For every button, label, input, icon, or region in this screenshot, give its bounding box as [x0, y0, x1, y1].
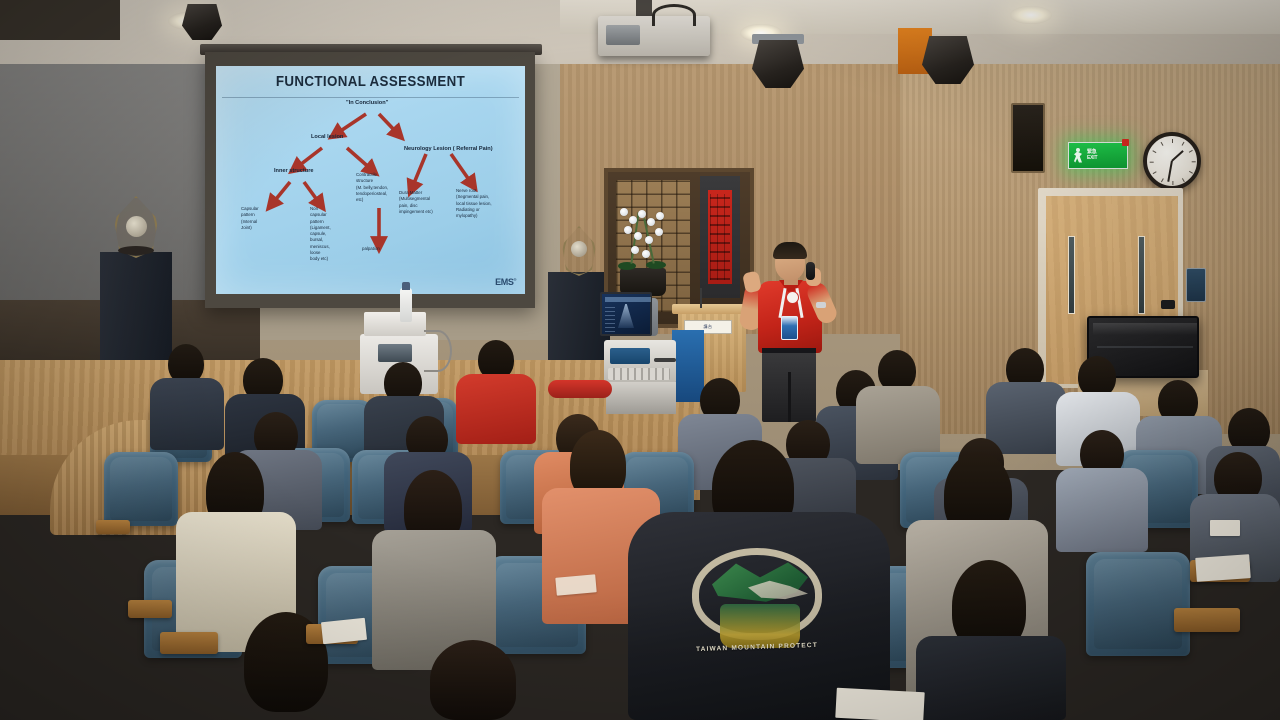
slide-node-palpation: palpation [362, 246, 380, 252]
seat-armrest [1174, 608, 1240, 632]
attendee-body [986, 382, 1066, 454]
orchid-flower [655, 228, 663, 236]
sculpture-disc [571, 241, 587, 257]
jacket-mountain-emblem [720, 604, 800, 648]
presenter-chest-pin [786, 291, 799, 304]
attendee-body [1056, 468, 1148, 552]
jacket-graphic: TAIWAN MOUNTAIN PROTECT [686, 548, 828, 666]
tv-screen-glare [1093, 323, 1197, 335]
handout-paper [1195, 554, 1251, 582]
seat-armrest [96, 520, 130, 534]
slide-node-nerve-root: Nerve root (Segmental pain, local tissue… [456, 188, 514, 219]
seat[interactable] [1086, 552, 1190, 656]
ems-logo: EMS® [495, 277, 516, 287]
projector-cable [652, 4, 696, 26]
ultrasound-scan-image [618, 304, 634, 328]
wall-clock-icon [1143, 132, 1201, 190]
slide-node-non-capsular: Non capsular pattern (Ligament, capsule,… [310, 206, 354, 262]
orchid-flower [647, 218, 655, 226]
access-card-reader[interactable] [1186, 268, 1206, 302]
ultrasound-screen-header [605, 297, 651, 302]
ultrasound-monitor [600, 292, 652, 336]
downlight-icon [1010, 6, 1052, 24]
orchid-flower [645, 236, 653, 244]
ultrasound-touch-panel [610, 348, 650, 364]
clock-tick [1172, 139, 1173, 143]
ultrasound-cart-base [606, 382, 676, 414]
presenter-leg-split [788, 372, 791, 422]
therapy-device-display [378, 344, 412, 362]
wall-speaker-icon [1011, 103, 1045, 173]
ceiling-shadow-left [0, 0, 120, 40]
therapy-device-tray [364, 312, 426, 336]
sculpture-base [118, 246, 154, 255]
slide-node-local-lesion: Local lesion [311, 134, 343, 142]
lectern-microphone-icon [700, 288, 702, 308]
exit-sign-indicator [1122, 139, 1129, 146]
slide-node-root: "In Conclusion" [346, 100, 388, 108]
clock-tick [1182, 178, 1185, 182]
gel-bottle [400, 288, 412, 322]
orchid-flower [629, 216, 637, 224]
scroll-calligraphy-text [710, 194, 730, 280]
clock-tick [1172, 181, 1173, 185]
handheld-microphone-icon [806, 262, 815, 280]
clock-tick [1150, 161, 1154, 162]
orchid-leaf [646, 261, 666, 269]
clock-tick [1189, 171, 1193, 174]
seat-armrest [160, 632, 218, 654]
presenter-hair [773, 242, 807, 259]
gel-bottle-cap [402, 282, 410, 290]
attendee-body [456, 374, 536, 444]
orchid-flower [656, 212, 664, 220]
emergency-exit-sign: 緊急 EXIT [1068, 142, 1128, 169]
orchid-flower [634, 232, 642, 240]
calligraphy-scroll [700, 176, 740, 298]
orchid-flower [631, 246, 639, 254]
seat[interactable] [104, 452, 178, 526]
clock-tick [1182, 142, 1185, 146]
orchid-flower [642, 250, 650, 258]
seat-armrest [128, 600, 172, 618]
red-bolster-roll [548, 380, 612, 398]
orchid-flower [620, 208, 628, 216]
clock-tick [1152, 150, 1156, 153]
projected-slide: FUNCTIONAL ASSESSMENT "In Conclusion [216, 66, 525, 294]
clock-tick [1161, 142, 1164, 146]
clock-hour-hand [1171, 150, 1184, 162]
presenter-wristwatch [816, 302, 826, 308]
handout-paper [835, 688, 924, 720]
pedestal-left [100, 252, 172, 362]
clock-tick [1192, 161, 1196, 162]
clock-minute-hand [1167, 161, 1172, 182]
equipment-blue-case [672, 330, 704, 402]
ultrasound-control-knobs[interactable] [608, 368, 670, 380]
clock-tick [1152, 171, 1156, 174]
running-person-icon [1073, 148, 1084, 164]
ultrasound-screen-sidebar [605, 304, 615, 332]
attendee-head [430, 640, 516, 720]
tv-screen-line [1097, 346, 1193, 348]
jacket-text: TAIWAN MOUNTAIN PROTECT [686, 642, 828, 654]
lecture-hall-scene: FUNCTIONAL ASSESSMENT "In Conclusion [0, 0, 1280, 720]
orchid-leaf [618, 262, 636, 270]
ultrasound-probe-icon [654, 358, 676, 362]
door-glass-panel [1138, 236, 1145, 314]
orchid-flower [624, 226, 632, 234]
door-glass-panel [1068, 236, 1075, 314]
slide-node-capsular: Capsular pattern (Internal Joint) [241, 206, 283, 231]
ceiling-camera-icon [1161, 300, 1175, 309]
handout-paper [1210, 520, 1240, 536]
clock-tick [1189, 150, 1193, 153]
sculpture-disc [126, 216, 147, 237]
presenter-badge [781, 316, 798, 340]
therapy-probe-cable [424, 330, 452, 372]
handout-paper [555, 574, 596, 595]
slide-node-dura-matter: Dura Matter (Multisegmental pain, disc i… [399, 190, 453, 215]
slide-node-inner-structure: Inner structure [274, 168, 313, 176]
exit-sign-text: 緊急 EXIT [1087, 150, 1097, 161]
attendee-body [916, 636, 1066, 720]
presenter-belt [762, 348, 816, 353]
attendee-body [150, 378, 224, 450]
clock-tick [1161, 178, 1164, 182]
slide-node-neurology-lesion: Neurology Lesion ( Referral Pain) [404, 146, 493, 154]
orchid-flower [638, 210, 646, 218]
handout-paper [321, 618, 367, 644]
